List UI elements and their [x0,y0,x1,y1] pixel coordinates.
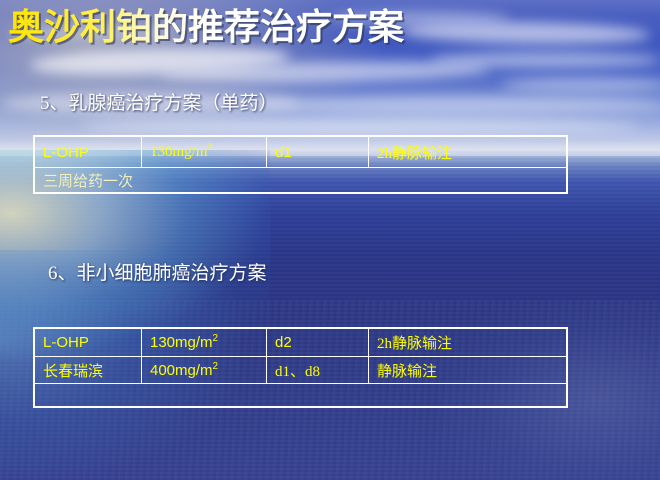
table-row: L-OHP 130mg/m2 d2 2h静脉输注 [35,329,566,356]
dose-value: 400mg/m2 [150,362,218,379]
page-title: 奥沙利铂的推荐治疗方案 [8,5,404,49]
cloud-streak [80,118,640,134]
cloud-streak [500,78,660,92]
superscript-2: 2 [208,142,213,153]
table-row: L-OHP 130mg/m2 d1 2h静脉输注 [35,137,566,167]
superscript-2: 2 [213,361,219,372]
cell-day: d2 [266,329,368,356]
table-row: 长春瑞滨 400mg/m2 d1、d8 静脉输注 [35,356,566,383]
superscript-2: 2 [213,333,219,344]
cell-dose: 400mg/m2 [141,357,266,383]
cell-administration: 2h静脉输注 [368,329,566,356]
cell-administration: 2h静脉输注 [368,137,566,167]
dose-value: 130mg/m2 [150,144,212,161]
cell-dose: 130mg/m2 [141,137,266,167]
slide-canvas: 奥沙利铂的推荐治疗方案 奥沙利铂的推荐治疗方案 5、乳腺癌治疗方案（单药） L-… [0,0,660,480]
cell-drug: L-OHP [35,137,141,167]
cell-empty [35,384,141,406]
cell-empty [266,384,368,406]
cell-empty [141,384,266,406]
section-heading-nsclc: 6、非小细胞肺癌治疗方案 [48,258,267,285]
cell-day: d1 [266,137,368,167]
cell-drug: 长春瑞滨 [35,357,141,383]
dose-value: 130mg/m2 [150,334,218,351]
cell-administration: 静脉输注 [368,357,566,383]
cell-drug: L-OHP [35,329,141,356]
cloud-streak [250,96,660,114]
regimen-table-breast-cancer: L-OHP 130mg/m2 d1 2h静脉输注 三周给药一次 [33,135,568,194]
cell-day: d1、d8 [266,357,368,383]
table-row: 三周给药一次 [35,167,566,192]
cell-dose: 130mg/m2 [141,329,266,356]
cell-note-frequency: 三周给药一次 [35,168,566,192]
background-photo [0,0,660,480]
regimen-table-nsclc: L-OHP 130mg/m2 d2 2h静脉输注 长春瑞滨 400mg/m2 d… [33,327,568,408]
table-row-empty [35,383,566,406]
cell-empty [368,384,566,406]
section-heading-breast-cancer: 5、乳腺癌治疗方案（单药） [40,88,278,115]
